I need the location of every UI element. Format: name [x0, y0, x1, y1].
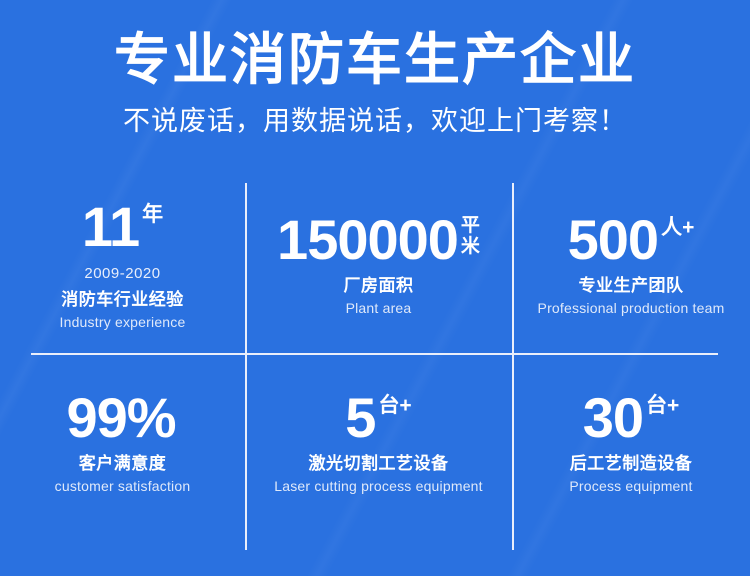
stat-card-customer-satisfaction: 99% 客户满意度 customer satisfaction — [0, 353, 245, 531]
stat-unit: 台+ — [378, 389, 411, 417]
stat-number-row: 500 人+ — [568, 211, 695, 269]
stat-value: 500 — [568, 211, 658, 269]
stat-unit: 年 — [142, 198, 163, 226]
stat-unit: 人+ — [661, 211, 694, 239]
stat-unit-line-2: 米 — [461, 236, 480, 257]
stat-number-row: 30 台+ — [583, 389, 680, 447]
stat-label-cn: 后工艺制造设备 — [570, 453, 693, 475]
stat-label-en: Industry experience — [60, 313, 186, 331]
stat-label-en: customer satisfaction — [55, 477, 191, 495]
stat-value: 99% — [66, 389, 175, 447]
stat-label-cn: 专业生产团队 — [579, 275, 684, 297]
stat-unit: 平 米 — [461, 211, 480, 257]
stat-card-production-team: 500 人+ 专业生产团队 Professional production te… — [512, 175, 750, 353]
stat-number-row: 11 年 — [82, 198, 163, 256]
stat-label-en: Laser cutting process equipment — [274, 477, 483, 495]
company-stats-banner: 专业消防车生产企业 不说废话，用数据说话，欢迎上门考察！ 11 年 2009-2… — [0, 0, 750, 576]
stat-label-cn: 消防车行业经验 — [61, 289, 184, 311]
stat-value: 11 — [82, 198, 139, 256]
banner-header: 专业消防车生产企业 不说废话，用数据说话，欢迎上门考察！ — [0, 0, 750, 138]
stat-label-en: Process equipment — [569, 477, 692, 495]
stat-label-cn: 厂房面积 — [344, 275, 414, 297]
stat-number-row: 150000 平 米 — [277, 211, 480, 269]
stat-label-cn: 客户满意度 — [79, 453, 167, 475]
stat-label-cn: 激光切割工艺设备 — [309, 453, 449, 475]
page-subtitle: 不说废话，用数据说话，欢迎上门考察！ — [0, 92, 750, 138]
stat-value: 150000 — [277, 211, 458, 269]
stat-note: 2009-2020 — [84, 264, 160, 283]
stat-card-plant-area: 150000 平 米 厂房面积 Plant area — [245, 175, 512, 353]
stat-unit-line-1: 平 — [461, 215, 480, 236]
stat-number-row: 99% — [66, 389, 178, 447]
stat-value: 5 — [345, 389, 375, 447]
stat-number-row: 5 台+ — [345, 389, 411, 447]
page-title: 专业消防车生产企业 — [0, 0, 750, 92]
stat-unit: 台+ — [646, 389, 679, 417]
stat-card-laser-cutting-equipment: 5 台+ 激光切割工艺设备 Laser cutting process equi… — [245, 353, 512, 531]
stat-label-en: Professional production team — [538, 299, 725, 317]
stats-grid: 11 年 2009-2020 消防车行业经验 Industry experien… — [0, 175, 750, 560]
stat-card-process-equipment: 30 台+ 后工艺制造设备 Process equipment — [512, 353, 750, 531]
stat-card-industry-experience: 11 年 2009-2020 消防车行业经验 Industry experien… — [0, 175, 245, 353]
stat-label-en: Plant area — [346, 299, 412, 317]
stat-value: 30 — [583, 389, 643, 447]
